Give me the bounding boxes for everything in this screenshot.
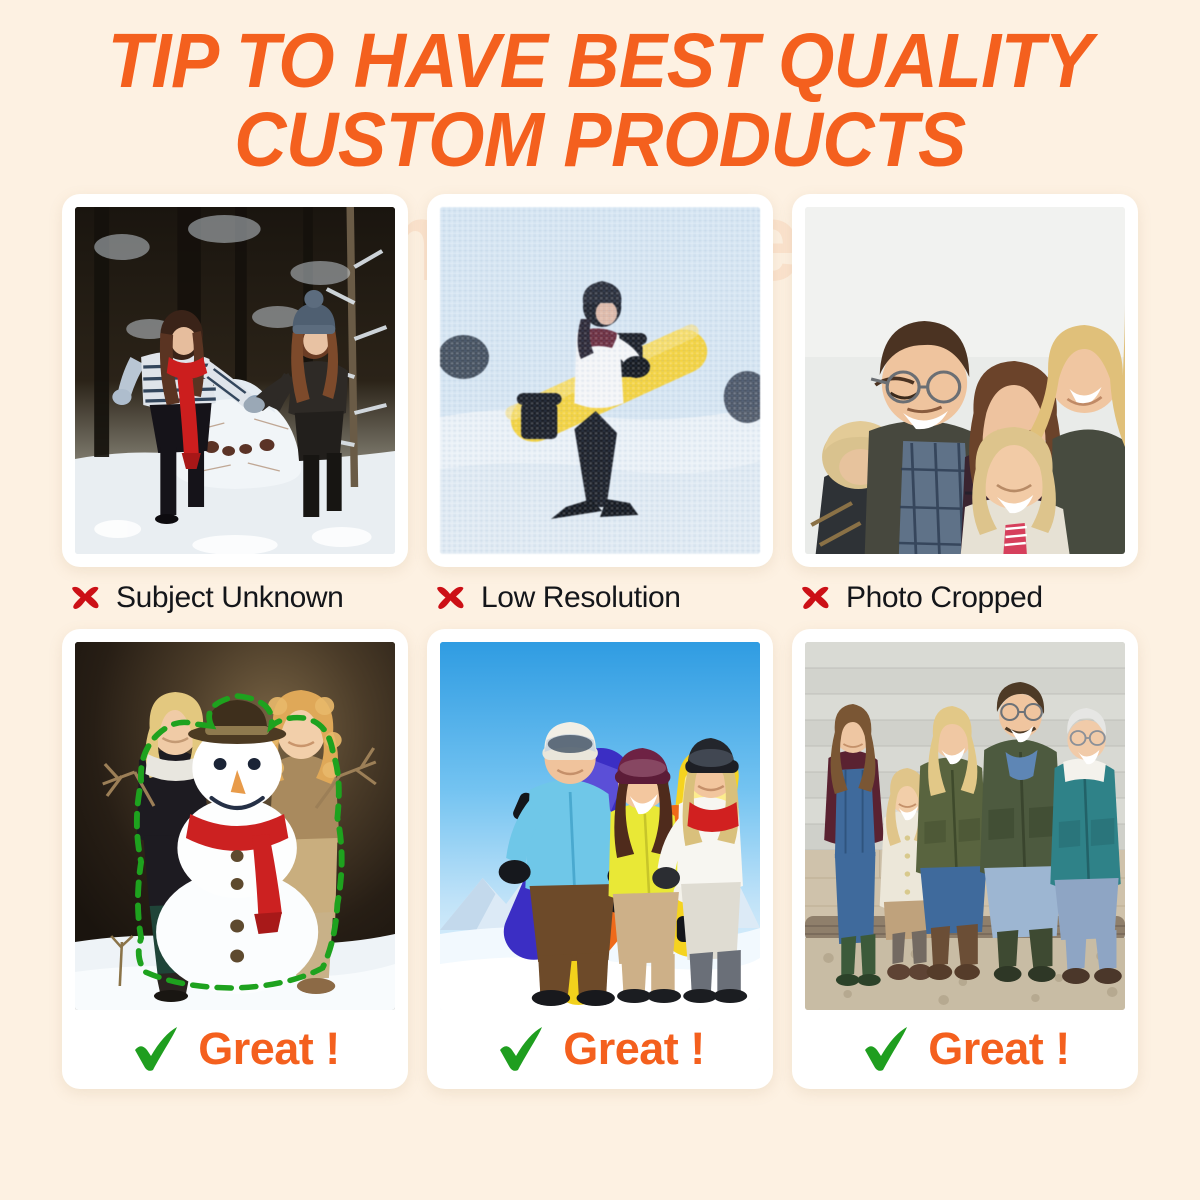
photo-card[interactable]	[792, 194, 1138, 567]
check-icon	[130, 1023, 182, 1075]
check-icon	[860, 1023, 912, 1075]
caption-text: Low Resolution	[481, 581, 681, 615]
great-row: Great !	[805, 1012, 1125, 1086]
photo-card[interactable]	[427, 194, 773, 567]
cross-icon	[798, 581, 832, 615]
comparison-grid: Subject Unknown	[0, 194, 1200, 1089]
caption-subject-unknown: Subject Unknown	[62, 567, 408, 629]
pixelation-noise-overlay	[440, 207, 760, 554]
photo-great-family	[805, 642, 1125, 1010]
cross-icon	[433, 581, 467, 615]
card-great-family: Great !	[792, 629, 1138, 1089]
card-subject-unknown: Subject Unknown	[62, 194, 408, 629]
caption-text: Subject Unknown	[116, 581, 343, 615]
photo-great-snowboarders	[440, 642, 760, 1010]
great-text: Great !	[563, 1023, 705, 1075]
page-title-line-1: TIP TO HAVE BEST QUALITY	[36, 22, 1164, 101]
photo-card[interactable]: Great !	[62, 629, 408, 1089]
photo-low-resolution	[440, 207, 760, 554]
card-great-snowboarders: Great !	[427, 629, 773, 1089]
caption-photo-cropped: Photo Cropped	[792, 567, 1138, 629]
great-text: Great !	[928, 1023, 1070, 1075]
cross-icon	[68, 581, 102, 615]
photo-subject-unknown	[75, 207, 395, 554]
photo-card[interactable]	[62, 194, 408, 567]
card-photo-cropped: Photo Cropped	[792, 194, 1138, 629]
photo-card[interactable]: Great !	[792, 629, 1138, 1089]
page-title-line-2: CUSTOM PRODUCTS	[36, 101, 1164, 180]
check-icon	[495, 1023, 547, 1075]
photo-photo-cropped	[805, 207, 1125, 554]
caption-text: Photo Cropped	[846, 581, 1043, 615]
caption-low-resolution: Low Resolution	[427, 567, 773, 629]
page-title: TIP TO HAVE BEST QUALITY CUSTOM PRODUCTS	[36, 0, 1164, 179]
great-text: Great !	[198, 1023, 340, 1075]
great-row: Great !	[440, 1012, 760, 1086]
photo-great-snowman	[75, 642, 395, 1010]
great-row: Great !	[75, 1012, 395, 1086]
photo-card[interactable]: Great !	[427, 629, 773, 1089]
card-great-snowman: Great !	[62, 629, 408, 1089]
card-low-resolution: Low Resolution	[427, 194, 773, 629]
